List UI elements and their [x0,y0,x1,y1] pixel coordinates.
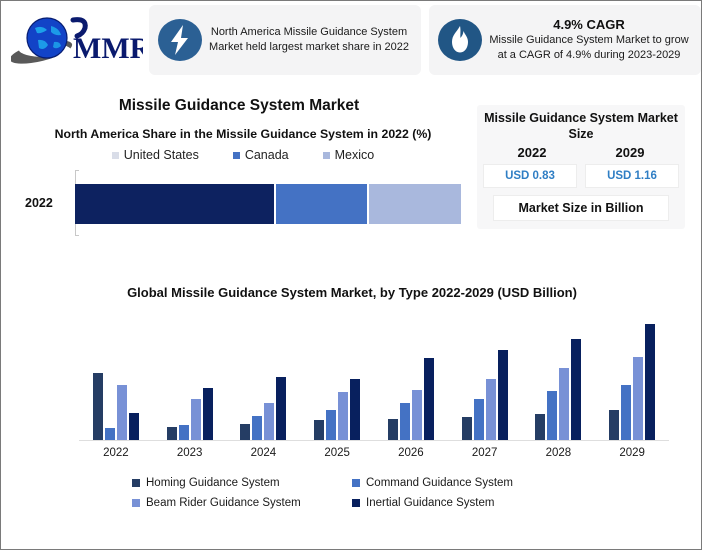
global-chart-plot [79,318,669,441]
na-chart-title: North America Share in the Missile Guida… [17,126,469,142]
global-chart-bar [388,419,398,440]
logo-text: MMR [73,32,143,65]
global-chart-bar [621,385,631,440]
badge-cagr-body: Missile Guidance System Market to grow a… [489,34,688,61]
global-chart-bar [400,403,410,440]
na-chart-legend: United States Canada Mexico [17,148,469,162]
global-chart-legend-swatch [132,479,140,487]
market-size-value-2029: USD 1.16 [585,164,679,188]
global-chart-legend-item: Beam Rider Guidance System [132,493,352,513]
global-chart-bar [498,350,508,440]
global-chart-bar [191,399,201,440]
badge-cagr: 4.9% CAGR Missile Guidance System Market… [429,5,701,75]
global-chart-bar [167,427,177,440]
flame-icon [435,15,485,65]
global-chart-bar-group [595,318,669,440]
global-chart-bar-group [227,318,301,440]
global-chart-bar [609,410,619,441]
global-chart-bar [105,428,115,440]
north-america-share-chart: North America Share in the Missile Guida… [17,126,469,261]
global-chart-x-label: 2028 [522,447,596,459]
market-size-value-2022: USD 0.83 [483,164,577,188]
global-chart-bar-group [374,318,448,440]
market-size-year-2029: 2029 [581,145,679,160]
na-legend-label-united-states: United States [124,148,199,162]
page-title: Missile Guidance System Market [19,97,459,115]
global-chart-bar [535,414,545,440]
global-chart-bar [462,417,472,440]
badge-cagr-title: 4.9% CAGR [487,17,691,32]
global-chart-bar [424,358,434,440]
global-chart-bar-group [153,318,227,440]
global-chart-x-axis: 20222023202420252026202720282029 [79,447,669,459]
global-chart-bar [645,324,655,440]
global-chart-legend-label: Homing Guidance System [146,477,280,489]
global-chart-legend-swatch [352,499,360,507]
na-chart-plot: 2022 [17,170,469,236]
global-chart-bar [93,373,103,440]
global-chart-bar-group [79,318,153,440]
badge-north-america: North America Missile Guidance System Ma… [149,5,421,75]
na-legend-item-canada: Canada [233,148,289,162]
na-stacked-bar [75,184,463,224]
global-chart-x-label: 2025 [300,447,374,459]
global-chart-x-label: 2022 [79,447,153,459]
global-chart-bar [474,399,484,440]
badge-cagr-text: 4.9% CAGR Missile Guidance System Market… [485,17,693,63]
global-chart-x-label: 2024 [227,447,301,459]
na-legend-label-canada: Canada [245,148,289,162]
global-chart-x-label: 2029 [595,447,669,459]
global-chart-bar-group [300,318,374,440]
global-chart-legend-item: Homing Guidance System [132,473,352,493]
na-legend-swatch-canada [233,152,240,159]
global-chart-bar [559,368,569,440]
global-chart-legend-item: Command Guidance System [352,473,572,493]
mmr-logo: MMR [7,5,147,77]
global-chart-bar-group [522,318,596,440]
na-bar-segment [369,184,461,224]
na-legend-swatch-united-states [112,152,119,159]
market-size-values: USD 0.83 USD 1.16 [483,164,679,188]
global-chart-bar [412,390,422,440]
global-chart-bar [179,425,189,440]
global-chart-bar [314,420,324,440]
infographic-page: MMR North America Missile Guidance Syste… [0,0,702,550]
global-chart-bar [264,403,274,440]
market-size-year-2022: 2022 [483,145,581,160]
na-bar-segment [75,184,274,224]
na-legend-swatch-mexico [323,152,330,159]
badge-north-america-text: North America Missile Guidance System Ma… [205,25,413,55]
global-chart-bar [326,410,336,441]
global-chart-title: Global Missile Guidance System Market, b… [7,283,697,302]
global-chart-bar [547,391,557,440]
global-chart-bar [252,416,262,440]
global-chart-bar [117,385,127,440]
global-chart-legend: Homing Guidance SystemCommand Guidance S… [132,473,572,513]
global-chart-bar [129,413,139,440]
market-size-years: 2022 2029 [483,145,679,160]
global-chart-x-label: 2023 [153,447,227,459]
market-size-title: Missile Guidance System Market Size [483,110,679,142]
market-size-unit-label: Market Size in Billion [493,195,669,221]
global-chart-bar [276,377,286,440]
global-chart-legend-label: Command Guidance System [366,477,513,489]
market-size-panel: Missile Guidance System Market Size 2022… [477,105,685,229]
global-chart-bar-group [448,318,522,440]
na-bar-segment [276,184,368,224]
global-chart-x-label: 2026 [374,447,448,459]
global-chart-legend-swatch [132,499,140,507]
header: MMR North America Missile Guidance Syste… [7,5,697,85]
globe-icon: MMR [11,12,143,70]
lightning-bolt-icon [155,15,205,65]
global-chart-legend-label: Inertial Guidance System [366,497,494,509]
global-market-by-type-chart: Global Missile Guidance System Market, b… [7,283,697,545]
na-legend-label-mexico: Mexico [335,148,375,162]
global-chart-bar [240,424,250,440]
global-chart-legend-swatch [352,479,360,487]
global-chart-bar [203,388,213,440]
global-chart-bar [486,379,496,440]
global-chart-x-label: 2027 [448,447,522,459]
global-chart-bar [633,357,643,440]
global-chart-bar [338,392,348,440]
global-chart-legend-label: Beam Rider Guidance System [146,497,301,509]
na-legend-item-mexico: Mexico [323,148,375,162]
na-chart-category-label: 2022 [25,196,53,210]
global-chart-bar [350,379,360,440]
global-chart-bar [571,339,581,440]
global-chart-legend-item: Inertial Guidance System [352,493,572,513]
na-legend-item-united-states: United States [112,148,199,162]
